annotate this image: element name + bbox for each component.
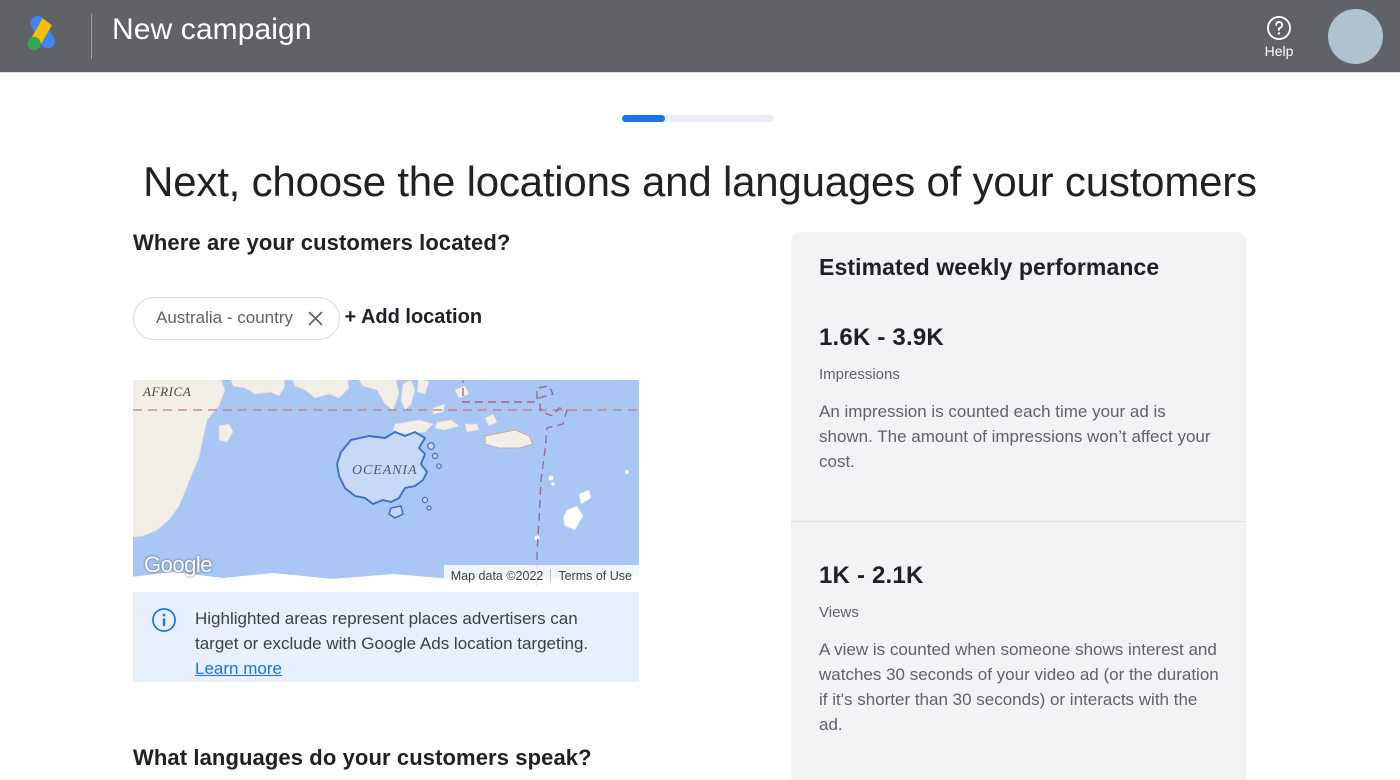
learn-more-link[interactable]: Learn more [195, 659, 282, 678]
svg-text:OCEANIA: OCEANIA [352, 463, 417, 478]
user-avatar[interactable] [1328, 9, 1383, 64]
svg-text:AFRICA: AFRICA [142, 384, 191, 399]
metric-label: Views [819, 604, 1219, 621]
step-progress-bar [622, 115, 774, 122]
help-button[interactable]: Help [1243, 0, 1315, 73]
location-chip-label: Australia - country [156, 308, 293, 328]
performance-card-title: Estimated weekly performance [819, 254, 1159, 281]
metric-description: A view is counted when someone shows int… [819, 637, 1219, 737]
map-graphic: AFRICA OCEANIA [133, 380, 639, 586]
locations-section: Where are your customers located? Austra… [133, 230, 733, 340]
metric-impressions: 1.6K - 3.9K Impressions An impression is… [819, 324, 1219, 474]
location-preview-map[interactable]: AFRICA OCEANIA Google Map data ©2022 Ter… [133, 380, 639, 586]
add-location-button[interactable]: + Add location [344, 306, 482, 329]
info-circle-icon [151, 607, 177, 633]
google-ads-logo[interactable] [18, 12, 68, 60]
page-heading: Next, choose the locations and languages… [0, 158, 1400, 206]
page-title: New campaign [112, 13, 312, 47]
metric-description: An impression is counted each time your … [819, 399, 1219, 474]
help-circle-icon [1266, 15, 1292, 41]
metric-value: 1K - 2.1K [819, 562, 1219, 590]
map-info-body: Highlighted areas represent places adver… [195, 609, 588, 653]
estimated-performance-card: Estimated weekly performance 1.6K - 3.9K… [791, 232, 1246, 780]
close-icon-glyph [306, 309, 325, 328]
help-label: Help [1265, 44, 1294, 58]
header-divider [91, 14, 92, 59]
map-info-text: Highlighted areas represent places adver… [195, 606, 623, 681]
terms-of-use-link[interactable]: Terms of Use [551, 569, 639, 583]
google-ads-logo-icon [18, 12, 68, 60]
map-data-attribution: Map data ©2022 [444, 569, 551, 583]
step-progress-fill [622, 115, 665, 122]
metric-views: 1K - 2.1K Views A view is counted when s… [819, 562, 1219, 737]
languages-section-title: What languages do your customers speak? [133, 745, 592, 771]
locations-section-title: Where are your customers located? [133, 230, 733, 256]
location-chip-australia[interactable]: Australia - country [133, 297, 340, 340]
metric-label: Impressions [819, 366, 1219, 383]
metric-value: 1.6K - 3.9K [819, 324, 1219, 352]
map-attribution-bar: Map data ©2022 Terms of Use [444, 565, 639, 586]
close-icon[interactable] [306, 309, 325, 328]
card-divider [791, 521, 1246, 522]
app-header: New campaign Help [0, 0, 1400, 73]
map-info-banner: Highlighted areas represent places adver… [133, 592, 639, 682]
